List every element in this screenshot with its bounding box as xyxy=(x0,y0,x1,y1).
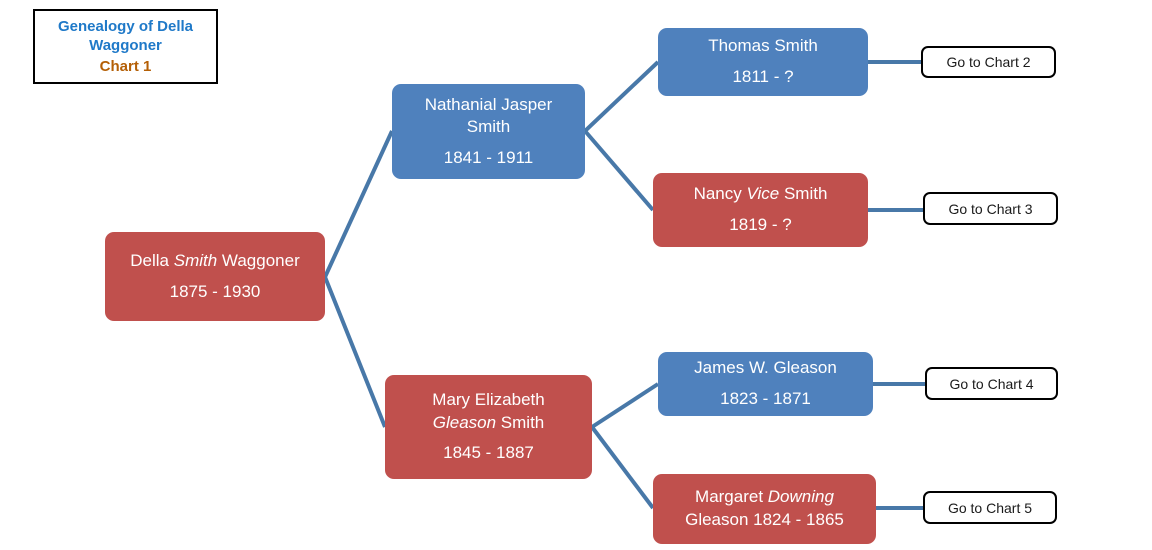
line-nathanial-to-nancy xyxy=(585,131,653,210)
chart-number-label: Chart 1 xyxy=(100,57,152,76)
person-dates-mary: 1845 - 1887 xyxy=(443,442,534,465)
person-node-nancy[interactable]: Nancy Vice Smith 1819 - ? xyxy=(653,173,868,247)
person-node-mary[interactable]: Mary Elizabeth Gleason Smith 1845 - 1887 xyxy=(385,375,592,479)
go-to-chart-4-label: Go to Chart 4 xyxy=(949,376,1033,392)
person-dates-nancy: 1819 - ? xyxy=(729,214,791,237)
chart-title-box: Genealogy of Della Waggoner Chart 1 xyxy=(33,9,218,84)
person-node-james[interactable]: James W. Gleason 1823 - 1871 xyxy=(658,352,873,416)
line-della-to-nathanial xyxy=(325,131,392,277)
line-della-to-mary xyxy=(325,277,385,427)
person-dates-della: 1875 - 1930 xyxy=(170,281,261,304)
go-to-chart-2-button[interactable]: Go to Chart 2 xyxy=(921,46,1056,78)
person-dates-james: 1823 - 1871 xyxy=(720,388,811,411)
person-name-james: James W. Gleason xyxy=(694,357,837,380)
chart-title-line1: Genealogy of Della xyxy=(52,17,199,36)
person-dates-nathanial: 1841 - 1911 xyxy=(444,147,533,170)
go-to-chart-5-button[interactable]: Go to Chart 5 xyxy=(923,491,1057,524)
person-name-nancy: Nancy Vice Smith xyxy=(694,183,828,206)
go-to-chart-3-button[interactable]: Go to Chart 3 xyxy=(923,192,1058,225)
person-dates-thomas: 1811 - ? xyxy=(732,66,793,89)
person-name-thomas: Thomas Smith xyxy=(708,35,818,58)
chart-title-line2: Waggoner xyxy=(83,36,168,55)
person-node-margaret[interactable]: Margaret Downing Gleason 1824 - 1865 xyxy=(653,474,876,544)
person-name-mary: Mary Elizabeth Gleason Smith xyxy=(432,389,544,434)
line-nathanial-to-thomas xyxy=(585,62,658,131)
genealogy-chart-canvas: Genealogy of Della Waggoner Chart 1 Dell… xyxy=(0,0,1152,550)
person-name-nathanial: Nathanial Jasper Smith xyxy=(425,94,553,139)
person-name-della: Della Smith Waggoner xyxy=(130,250,299,273)
go-to-chart-3-label: Go to Chart 3 xyxy=(948,201,1032,217)
line-mary-to-margaret xyxy=(592,427,653,508)
line-mary-to-james xyxy=(592,384,658,427)
person-node-thomas[interactable]: Thomas Smith 1811 - ? xyxy=(658,28,868,96)
go-to-chart-5-label: Go to Chart 5 xyxy=(948,500,1032,516)
person-node-della[interactable]: Della Smith Waggoner 1875 - 1930 xyxy=(105,232,325,321)
person-node-nathanial[interactable]: Nathanial Jasper Smith 1841 - 1911 xyxy=(392,84,585,179)
go-to-chart-4-button[interactable]: Go to Chart 4 xyxy=(925,367,1058,400)
person-name-margaret: Margaret Downing Gleason 1824 - 1865 xyxy=(685,486,844,531)
go-to-chart-2-label: Go to Chart 2 xyxy=(946,54,1030,70)
